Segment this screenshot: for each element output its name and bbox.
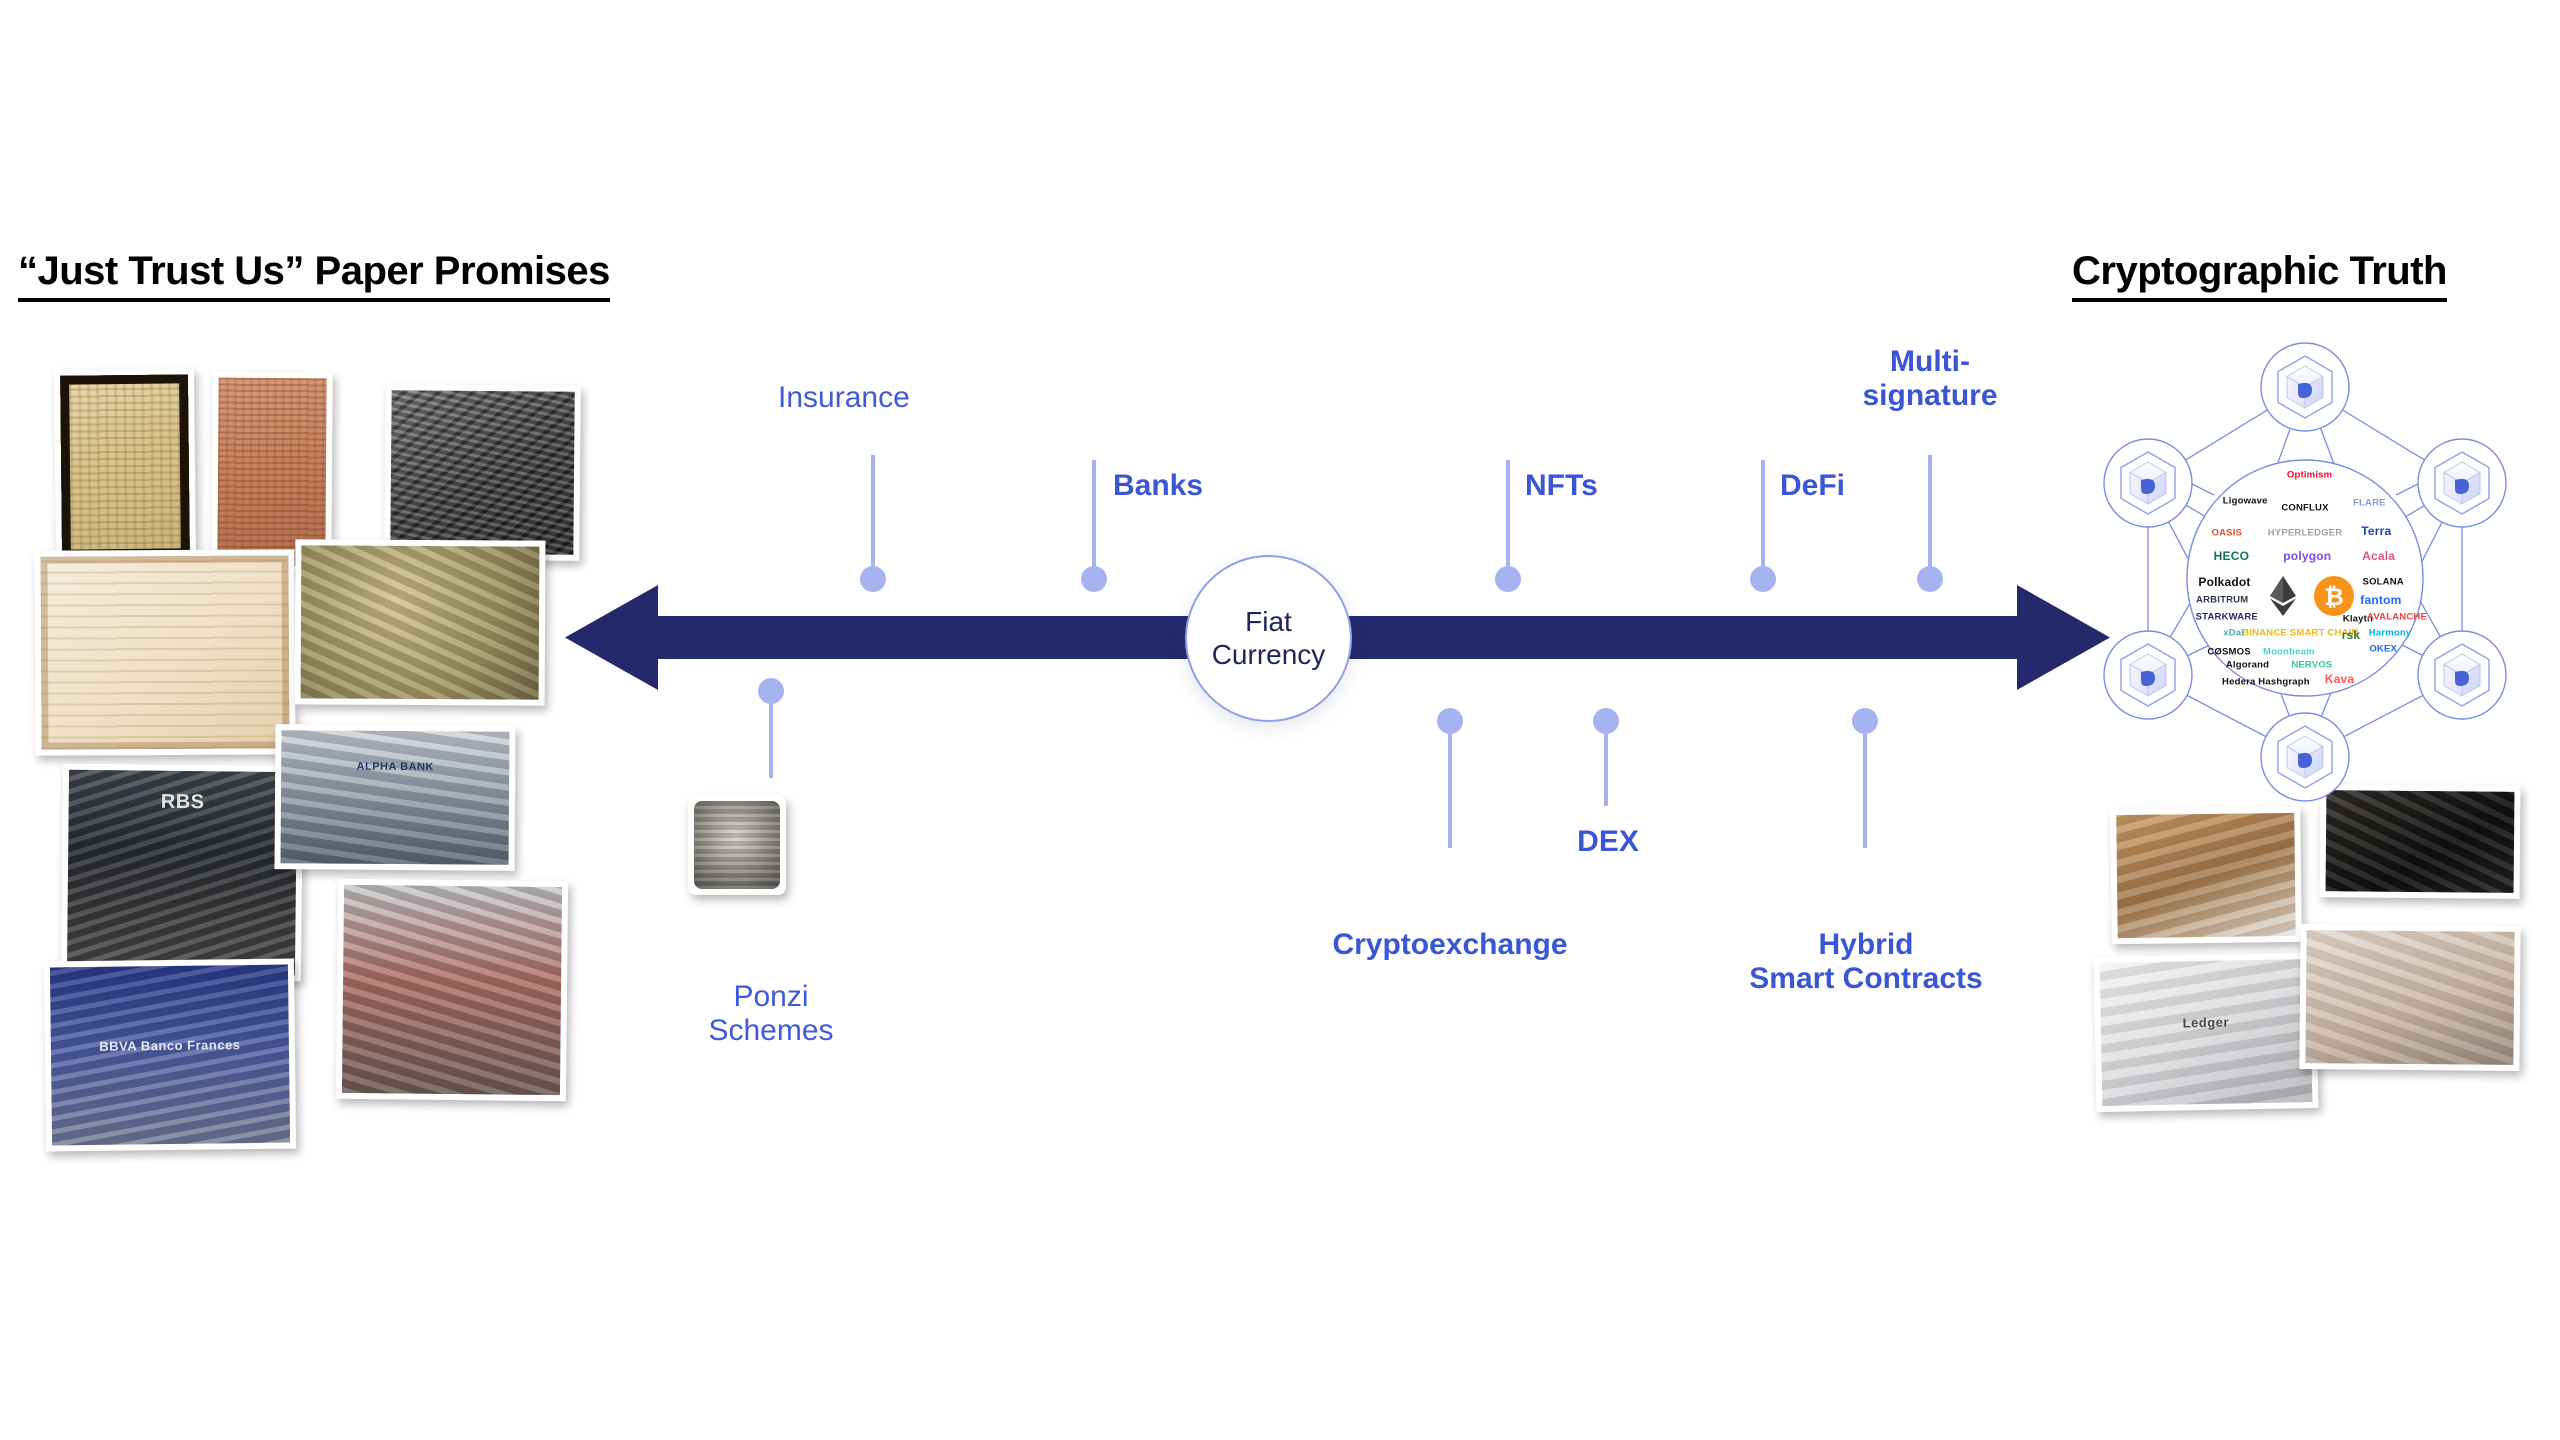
pin-defi — [1750, 460, 1776, 592]
fiat-currency-line2: Currency — [1212, 639, 1326, 671]
photo-hardware-wallet-laptop — [2110, 807, 2302, 944]
pin-dex — [1593, 708, 1619, 806]
photo-tulip-mania-painting — [295, 539, 546, 705]
slide-canvas: “Just Trust Us” Paper Promises Cryptogra… — [0, 0, 2560, 1440]
network-node-lower-left — [2104, 631, 2192, 719]
label-ponzi-schemes: Ponzi Schemes — [708, 980, 833, 1047]
fiat-currency-line1: Fiat — [1245, 606, 1292, 638]
label-multi-signature: Multi- signature — [1862, 345, 1997, 412]
blockchain-network-diagram — [2090, 335, 2520, 805]
network-node-bottom — [2261, 713, 2349, 801]
network-node-top — [2261, 343, 2349, 431]
network-node-lower-right — [2418, 631, 2506, 719]
photo-bank-queue-loan-poster — [336, 879, 568, 1101]
photo-ming-dynasty-banknote — [54, 368, 196, 564]
pin-nfts — [1495, 460, 1521, 592]
pin-cryptoexchange — [1437, 708, 1463, 848]
label-cryptoexchange: Cryptoexchange — [1332, 928, 1567, 962]
pin-ponzi-schemes — [758, 678, 784, 778]
photo-bank-run-1930s-crowd — [384, 384, 581, 561]
page-title-left: “Just Trust Us” Paper Promises — [18, 250, 610, 302]
label-defi: DeFi — [1780, 469, 1845, 503]
label-banks: Banks — [1113, 469, 1203, 503]
photo-stockholms-banco-note — [34, 549, 295, 755]
network-node-upper-right — [2418, 439, 2506, 527]
fiat-currency-hub: Fiat Currency — [1185, 555, 1352, 722]
photo-charles-ponzi-portrait — [688, 795, 786, 895]
photo-banco-frances-protest: BBVA Banco Frances — [44, 958, 296, 1151]
label-hybrid-smart-contracts: Hybrid Smart Contracts — [1749, 928, 1982, 995]
pin-banks — [1081, 460, 1107, 592]
label-insurance: Insurance — [778, 381, 910, 415]
label-nfts: NFTs — [1525, 469, 1598, 503]
photo-ledger-nano-keyboard: Ledger — [2094, 953, 2319, 1112]
page-title-right: Cryptographic Truth — [2072, 250, 2447, 302]
photo-rbs-protest-crowd: RBS — [61, 764, 303, 982]
pin-insurance — [860, 455, 886, 592]
photo-phone-wallet-fingerprint — [2299, 924, 2520, 1071]
pin-hybrid-smart-contracts — [1852, 708, 1878, 848]
photo-alpha-bank-queue: ALPHA BANK — [274, 724, 515, 871]
pin-multi-signature — [1917, 455, 1943, 592]
network-node-upper-left — [2104, 439, 2192, 527]
label-dex: DEX — [1577, 825, 1639, 859]
